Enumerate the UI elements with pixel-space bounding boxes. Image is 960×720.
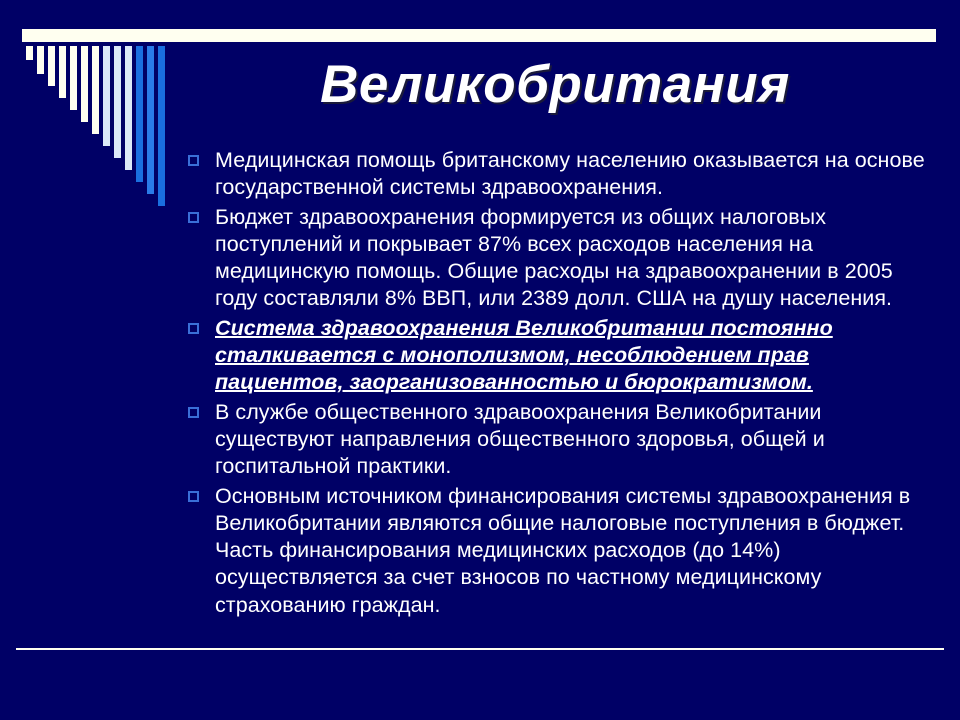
decorative-bar xyxy=(37,46,44,74)
decorative-bar xyxy=(26,46,33,60)
bullet-text: Медицинская помощь британскому населению… xyxy=(215,147,930,202)
bullet-list: Медицинская помощь британскому населению… xyxy=(188,147,930,621)
bullet-item: В службе общественного здравоохранения В… xyxy=(188,399,930,481)
top-accent-bar xyxy=(22,29,936,42)
decorative-bar-chart-graphic xyxy=(26,46,176,196)
decorative-bar xyxy=(81,46,88,122)
decorative-bar xyxy=(136,46,143,182)
bullet-text: Бюджет здравоохранения формируется из об… xyxy=(215,204,930,313)
square-bullet-icon xyxy=(188,212,199,223)
bullet-item: Бюджет здравоохранения формируется из об… xyxy=(188,204,930,313)
square-bullet-icon xyxy=(188,407,199,418)
bullet-text: Основным источником финансирования систе… xyxy=(215,483,930,619)
decorative-bar xyxy=(103,46,110,146)
bullet-item: Медицинская помощь британскому населению… xyxy=(188,147,930,202)
bullet-text: Система здравоохранения Великобритании п… xyxy=(215,315,930,397)
decorative-bar xyxy=(70,46,77,110)
square-bullet-icon xyxy=(188,155,199,166)
decorative-bar xyxy=(59,46,66,98)
slide-title: Великобритания xyxy=(190,57,920,112)
decorative-bar xyxy=(147,46,154,194)
bottom-divider-rule xyxy=(16,648,944,650)
bullet-item: Система здравоохранения Великобритании п… xyxy=(188,315,930,397)
square-bullet-icon xyxy=(188,491,199,502)
decorative-bar xyxy=(48,46,55,86)
decorative-bar xyxy=(92,46,99,134)
decorative-bar xyxy=(125,46,132,170)
presentation-slide: Великобритания Медицинская помощь британ… xyxy=(0,0,960,720)
decorative-bar xyxy=(158,46,165,206)
square-bullet-icon xyxy=(188,323,199,334)
decorative-bar xyxy=(114,46,121,158)
bullet-item: Основным источником финансирования систе… xyxy=(188,483,930,619)
bullet-text: В службе общественного здравоохранения В… xyxy=(215,399,930,481)
